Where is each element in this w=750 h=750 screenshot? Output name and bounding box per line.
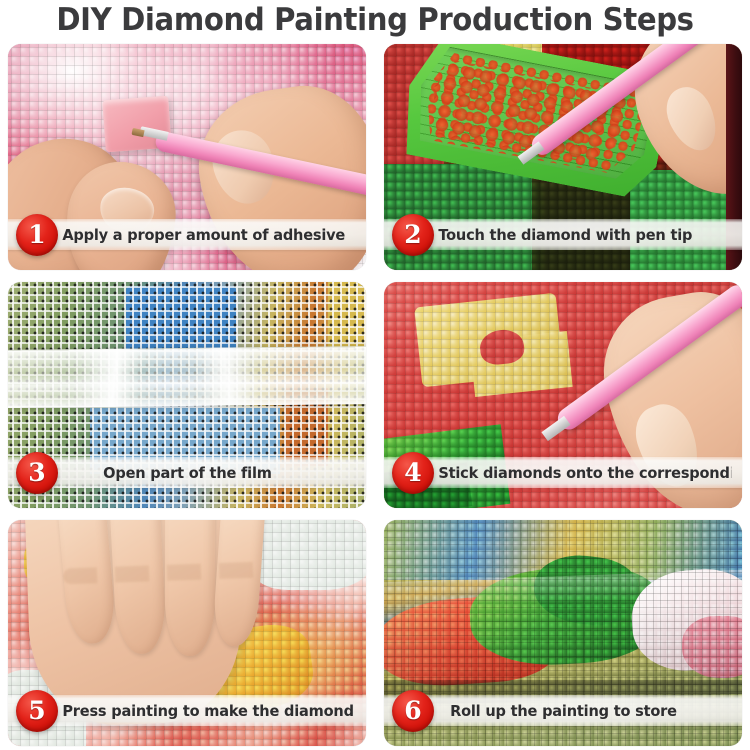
step-card-5[interactable]: 5 Press painting to make the diamond mor… — [8, 520, 366, 746]
step-number-6: 6 — [404, 698, 421, 723]
step-number-3: 3 — [28, 460, 45, 485]
step-number-2: 2 — [404, 222, 421, 247]
step-card-6[interactable]: 6 Roll up the painting to store — [384, 520, 742, 746]
step-caption-2: Touch the diamond with pen tip — [384, 226, 731, 244]
step-caption-bar-3: 3 Open part of the film — [8, 457, 366, 488]
step-card-4[interactable]: 4 Stick diamonds onto the corresponding … — [384, 282, 742, 508]
step-caption-1: Apply a proper amount of adhesive — [8, 226, 355, 244]
step-number-4: 4 — [404, 460, 421, 485]
step-badge-5: 5 — [16, 690, 58, 732]
step-caption-bar-1: 1 Apply a proper amount of adhesive — [8, 219, 366, 250]
step-badge-2: 2 — [392, 214, 434, 256]
step-number-5: 5 — [28, 698, 45, 723]
step-card-2[interactable]: 2 Touch the diamond with pen tip — [384, 44, 742, 270]
step-caption-3: Open part of the film — [8, 464, 355, 482]
step-caption-bar-2: 2 Touch the diamond with pen tip — [384, 219, 742, 250]
diy-steps-infographic: DIY Diamond Painting Production Steps — [0, 0, 750, 750]
step-caption-4: Stick diamonds onto the corresponding ca… — [384, 464, 731, 482]
step-badge-6: 6 — [392, 690, 434, 732]
step-badge-4: 4 — [392, 452, 434, 494]
step-badge-3: 3 — [16, 452, 58, 494]
step-caption-6: Roll up the painting to store — [384, 702, 731, 720]
page-title: DIY Diamond Painting Production Steps — [23, 0, 728, 42]
step-caption-bar-4: 4 Stick diamonds onto the corresponding … — [384, 457, 742, 488]
step-card-3[interactable]: 3 Open part of the film — [8, 282, 366, 508]
step-number-1: 1 — [28, 222, 45, 247]
steps-grid: 1 Apply a proper amount of adhesive — [8, 44, 742, 744]
step-caption-bar-6: 6 Roll up the painting to store — [384, 695, 742, 726]
step-caption-bar-5: 5 Press painting to make the diamond mor… — [8, 695, 366, 726]
step-card-1[interactable]: 1 Apply a proper amount of adhesive — [8, 44, 366, 270]
step-badge-1: 1 — [16, 214, 58, 256]
step-caption-5: Press painting to make the diamond more … — [8, 702, 355, 720]
